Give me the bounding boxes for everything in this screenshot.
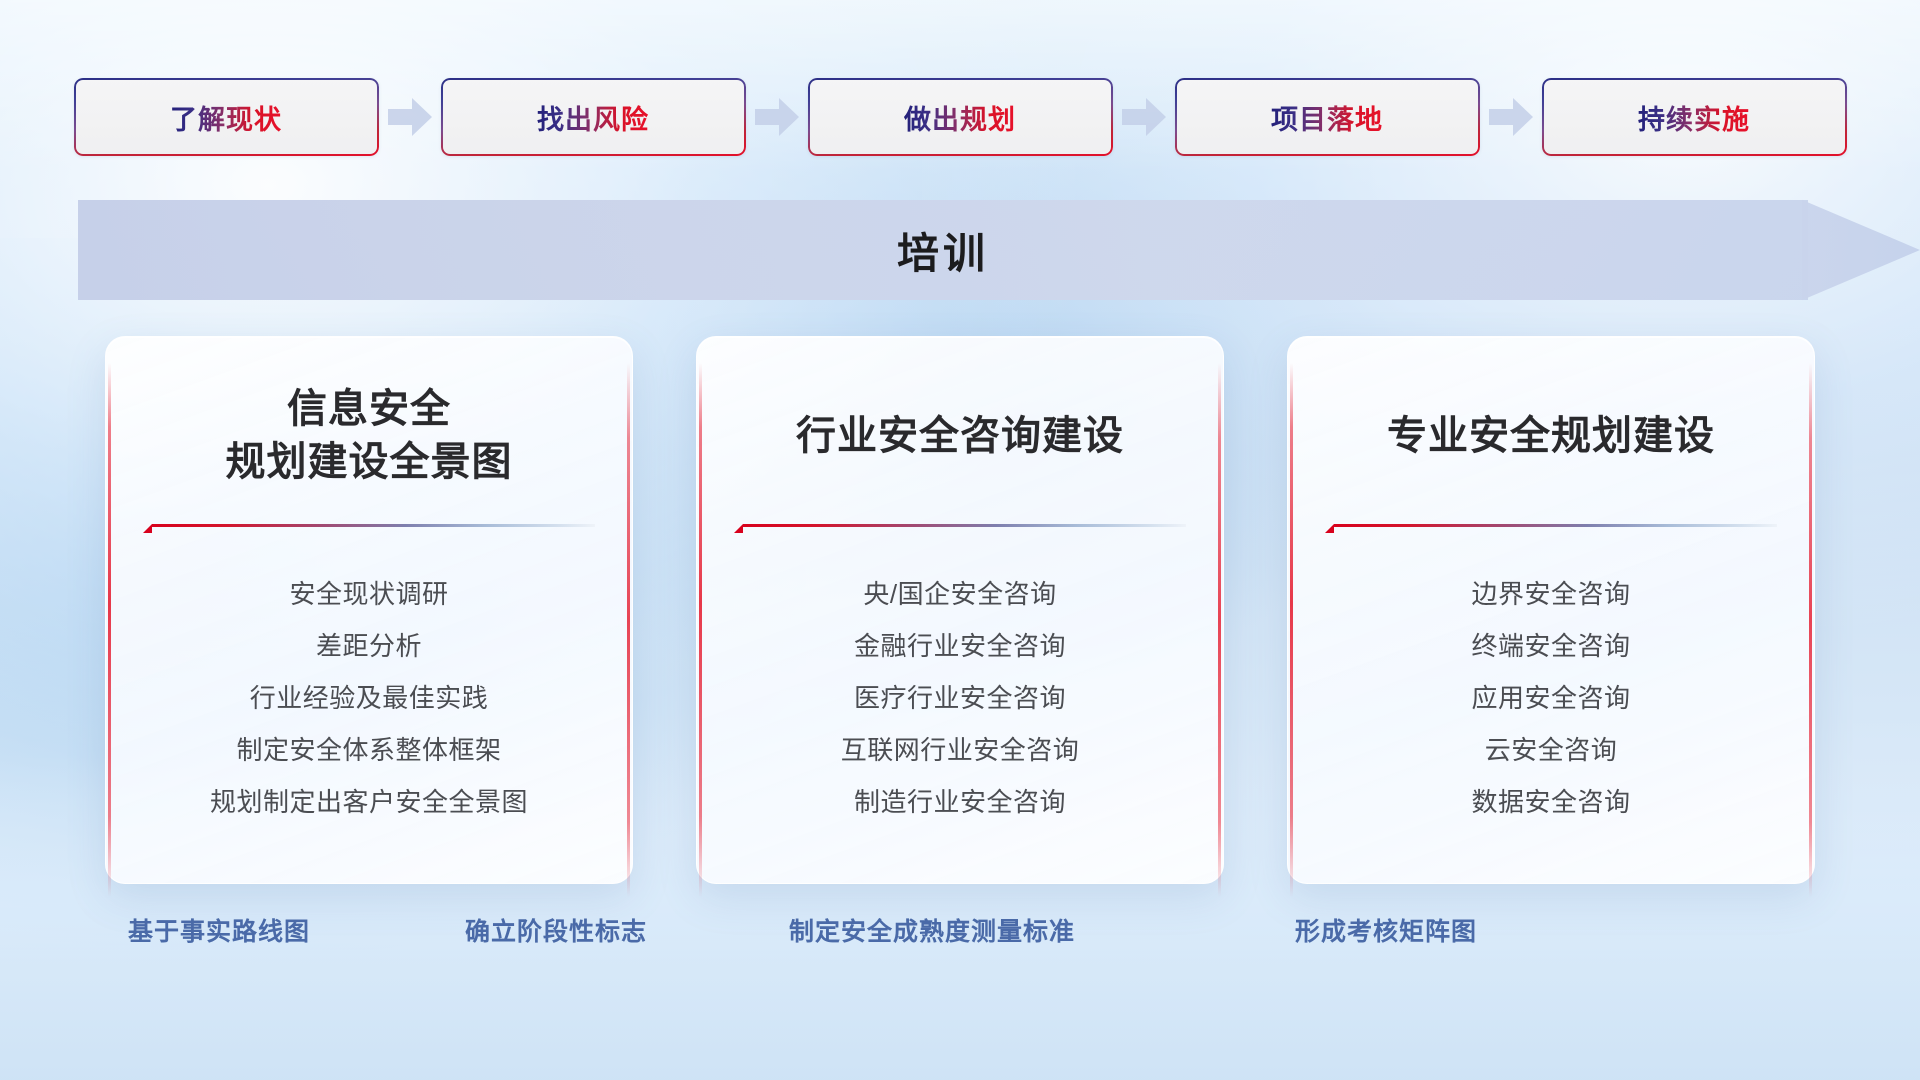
training-banner: 培训 — [78, 200, 1920, 300]
gradient-divider-icon-3 — [1325, 523, 1777, 534]
step-arrow-1 — [379, 78, 441, 156]
step-box-1[interactable]: 了解现状 — [74, 78, 379, 156]
gradient-divider-icon-1 — [143, 523, 595, 534]
process-step-row: 了解现状 找出风险 做出规划 项目落地 — [0, 78, 1920, 156]
card-item-list-3: 边界安全咨询 终端安全咨询 应用安全咨询 云安全咨询 数据安全咨询 — [1326, 568, 1776, 828]
card-title-line-1b: 规划建设全景图 — [226, 440, 513, 484]
card-item: 安全现状调研 — [289, 568, 448, 620]
step-label-4: 项目落地 — [1271, 98, 1383, 137]
card-title-3: 专业安全规划建设 — [1387, 377, 1715, 495]
step-wrap-4: 持续实施 — [1542, 78, 1847, 156]
step-arrow-3 — [1113, 78, 1175, 156]
bottom-label-maturity: 制定安全成熟度测量标准 — [789, 912, 1075, 948]
card-title-2: 行业安全咨询建设 — [796, 377, 1124, 495]
card-item: 数据安全咨询 — [1471, 776, 1630, 828]
card-item-list-2: 央/国企安全咨询 金融行业安全咨询 医疗行业安全咨询 互联网行业安全咨询 制造行… — [735, 568, 1185, 828]
step-label-1: 了解现状 — [170, 98, 282, 137]
bottom-label-row: 基于事实路线图 确立阶段性标志 制定安全成熟度测量标准 形成考核矩阵图 — [0, 912, 1920, 962]
card-item: 制造行业安全咨询 — [854, 776, 1066, 828]
step-arrow-2 — [746, 78, 808, 156]
card-item: 边界安全咨询 — [1471, 568, 1630, 620]
card-right-accent-1 — [627, 363, 630, 897]
card-item: 行业经验及最佳实践 — [250, 672, 489, 724]
card-right-accent-3 — [1809, 363, 1812, 897]
step-box-2[interactable]: 找出风险 — [441, 78, 746, 156]
step-wrap-2: 做出规划 — [808, 78, 1113, 156]
card-item: 制定安全体系整体框架 — [236, 724, 501, 776]
step-wrap-0: 了解现状 — [74, 78, 379, 156]
bottom-label-roadmap: 基于事实路线图 — [128, 912, 310, 948]
card-title-line-1a: 信息安全 — [287, 387, 451, 431]
step-box-3[interactable]: 做出规划 — [808, 78, 1113, 156]
card-title-1: 信息安全 规划建设全景图 — [226, 377, 513, 495]
step-wrap-3: 项目落地 — [1175, 78, 1480, 156]
card-item-list-1: 安全现状调研 差距分析 行业经验及最佳实践 制定安全体系整体框架 规划制定出客户… — [144, 568, 594, 828]
card-industry-security-consulting[interactable]: 行业安全咨询建设 央/国企安全咨询 — [696, 336, 1224, 884]
card-title-line-3a: 专业安全规划建设 — [1387, 410, 1715, 463]
bottom-label-milestones: 确立阶段性标志 — [465, 912, 647, 948]
bottom-label-matrix: 形成考核矩阵图 — [1295, 912, 1477, 948]
step-box-5[interactable]: 持续实施 — [1542, 78, 1847, 156]
card-item: 央/国企安全咨询 — [863, 568, 1056, 620]
step-box-4[interactable]: 项目落地 — [1175, 78, 1480, 156]
card-item: 医疗行业安全咨询 — [854, 672, 1066, 724]
card-item: 互联网行业安全咨询 — [841, 724, 1080, 776]
card-item: 差距分析 — [316, 620, 422, 672]
card-info-security-blueprint[interactable]: 信息安全 规划建设全景图 — [105, 336, 633, 884]
step-label-3: 做出规划 — [904, 98, 1016, 137]
step-label-2: 找出风险 — [537, 98, 649, 137]
card-item: 应用安全咨询 — [1471, 672, 1630, 724]
card-item: 云安全咨询 — [1485, 724, 1618, 776]
card-item: 金融行业安全咨询 — [854, 620, 1066, 672]
card-item: 规划制定出客户安全全景图 — [210, 776, 528, 828]
step-label-5: 持续实施 — [1638, 98, 1750, 137]
card-item: 终端安全咨询 — [1471, 620, 1630, 672]
card-title-line-2a: 行业安全咨询建设 — [796, 410, 1124, 463]
banner-title: 培训 — [78, 200, 1808, 300]
gradient-divider-icon-2 — [734, 523, 1186, 534]
card-professional-security-planning[interactable]: 专业安全规划建设 边界安全咨询 — [1287, 336, 1815, 884]
card-row: 信息安全 规划建设全景图 — [0, 336, 1920, 884]
card-right-accent-2 — [1218, 363, 1221, 897]
step-wrap-1: 找出风险 — [441, 78, 746, 156]
step-arrow-4 — [1480, 78, 1542, 156]
